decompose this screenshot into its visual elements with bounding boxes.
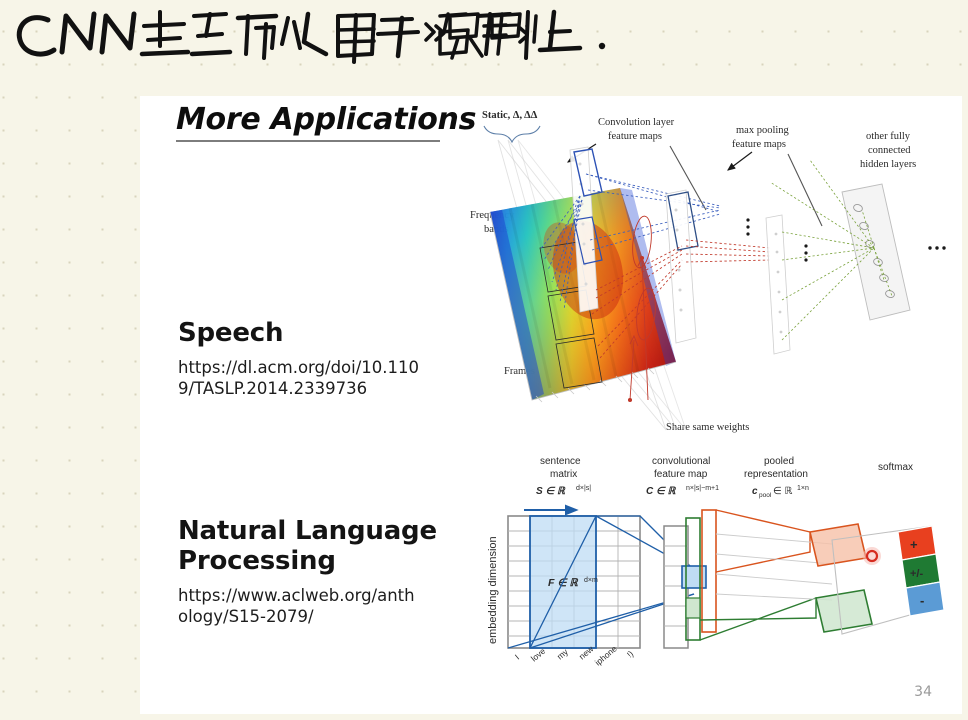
- label-pool-line1: max pooling: [736, 125, 790, 136]
- label-static: Static, Δ, ΔΔ: [482, 110, 538, 121]
- url-line-1: https://dl.acm.org/doi/10.110: [178, 358, 419, 377]
- label-embedding-dimension: embedding dimension: [487, 536, 499, 644]
- label-conv-math: C ∈ ℝ: [646, 486, 676, 497]
- url-line-1: https://www.aclweb.org/anth: [178, 586, 415, 605]
- label-softmax: softmax: [878, 462, 913, 473]
- label-conv-line1: convolutional: [652, 456, 710, 467]
- class-label-negative: -: [920, 593, 924, 608]
- label-filter-math-sup: d×m: [584, 577, 598, 584]
- label-pooled-math-sub: pool: [759, 492, 772, 499]
- section-heading-nlp: Natural Language Processing: [178, 516, 468, 576]
- url-line-2: ology/S15-2079/: [178, 607, 314, 626]
- label-conv-math-sup: n×|s|−m+1: [686, 485, 719, 492]
- section-heading-speech: Speech: [178, 318, 468, 348]
- figure-nlp-cnn: sentence matrix S ∈ ℝ d×|s| convolutiona…: [480, 448, 962, 706]
- section-url-speech[interactable]: https://dl.acm.org/doi/10.110 9/TASLP.20…: [178, 357, 468, 399]
- label-pooled-math-rest: ∈ ℝ: [773, 486, 792, 497]
- label-conv-line2: feature maps: [608, 131, 662, 142]
- title-underline: [176, 140, 440, 142]
- label-sentence-line1: sentence: [540, 456, 581, 467]
- label-sentence-math: S ∈ ℝ: [536, 486, 566, 497]
- section-url-nlp[interactable]: https://www.aclweb.org/anth ology/S15-20…: [178, 585, 468, 627]
- label-conv-line1: Convolution layer: [598, 117, 675, 128]
- url-line-2: 9/TASLP.2014.2339736: [178, 379, 367, 398]
- label-pooled-math: c: [752, 486, 758, 497]
- word-label-0: I: [513, 652, 521, 661]
- label-fc-line2: connected: [868, 145, 911, 156]
- label-share-weights: Share same weights: [666, 422, 749, 433]
- title-block: More Applications: [176, 104, 476, 142]
- label-fc-line1: other fully: [866, 131, 911, 142]
- figure-speech-cnn: Static, Δ, ΔΔ Convolution layer feature …: [470, 100, 962, 450]
- label-pool-line2: feature maps: [732, 139, 786, 150]
- section-speech: Speech https://dl.acm.org/doi/10.110 9/T…: [178, 318, 468, 399]
- class-label-positive: +: [910, 537, 918, 552]
- class-label-neutral: +/-: [910, 568, 923, 580]
- section-nlp: Natural Language Processing https://www.…: [178, 516, 468, 628]
- page-title: More Applications: [176, 104, 476, 136]
- label-fc-line3: hidden layers: [860, 159, 916, 170]
- label-sentence-line2: matrix: [550, 469, 577, 480]
- heading-line-2: Processing: [178, 546, 336, 576]
- label-conv-line2: feature map: [654, 469, 708, 480]
- heading-line-1: Natural Language: [178, 516, 437, 546]
- slide-canvas: More Applications Speech https://dl.acm.…: [140, 96, 962, 714]
- label-sentence-math-sup: d×|s|: [576, 485, 591, 492]
- word-label-5: !): [625, 648, 636, 659]
- label-pooled-line2: representation: [744, 469, 808, 480]
- page-number: 34: [914, 684, 932, 700]
- label-pooled-line1: pooled: [764, 456, 794, 467]
- label-pooled-math-sup: 1×n: [797, 485, 809, 492]
- handwritten-annotation-tail: [428, 2, 628, 68]
